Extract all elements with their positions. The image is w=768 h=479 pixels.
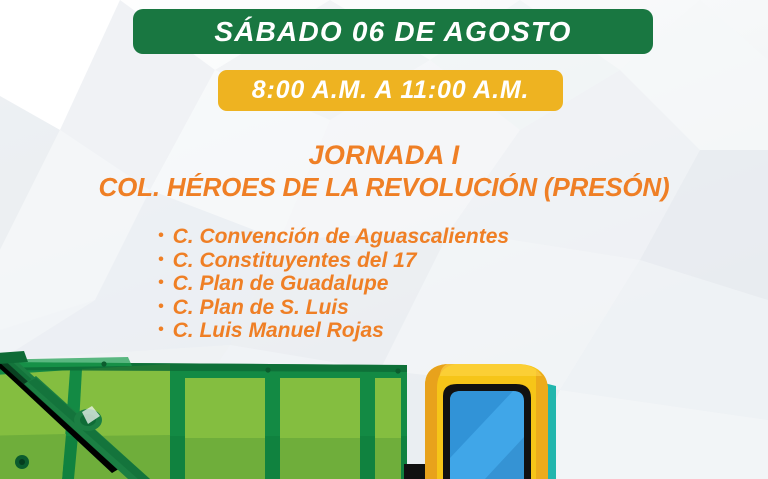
street-name: C. Plan de S. Luis — [173, 296, 349, 320]
street-name: C. Constituyentes del 17 — [173, 249, 417, 273]
list-item: • C. Convención de Aguascalientes — [158, 225, 509, 249]
poster-canvas: SÁBADO 06 DE AGOSTO 8:00 A.M. A 11:00 A.… — [0, 0, 768, 479]
truck-cab — [425, 364, 556, 479]
time-banner: 8:00 A.M. A 11:00 A.M. — [218, 70, 563, 111]
truck-window — [450, 391, 524, 479]
list-item: • C. Plan de Guadalupe — [158, 272, 509, 296]
bullet-icon: • — [158, 322, 164, 338]
street-name: C. Convención de Aguascalientes — [173, 225, 509, 249]
garbage-truck-illustration — [0, 340, 768, 479]
jornada-title: JORNADA I — [0, 141, 768, 170]
street-list: • C. Convención de Aguascalientes • C. C… — [158, 225, 509, 343]
headings-block: JORNADA I COL. HÉROES DE LA REVOLUCIÓN (… — [0, 141, 768, 201]
bullet-icon: • — [158, 228, 164, 244]
street-name: C. Plan de Guadalupe — [173, 272, 389, 296]
date-banner: SÁBADO 06 DE AGOSTO — [133, 9, 653, 54]
list-item: • C. Constituyentes del 17 — [158, 249, 509, 273]
list-item: • C. Plan de S. Luis — [158, 296, 509, 320]
bullet-icon: • — [158, 299, 164, 315]
bullet-icon: • — [158, 252, 164, 268]
colonia-title: COL. HÉROES DE LA REVOLUCIÓN (PRESÓN) — [0, 173, 768, 201]
bullet-icon: • — [158, 275, 164, 291]
